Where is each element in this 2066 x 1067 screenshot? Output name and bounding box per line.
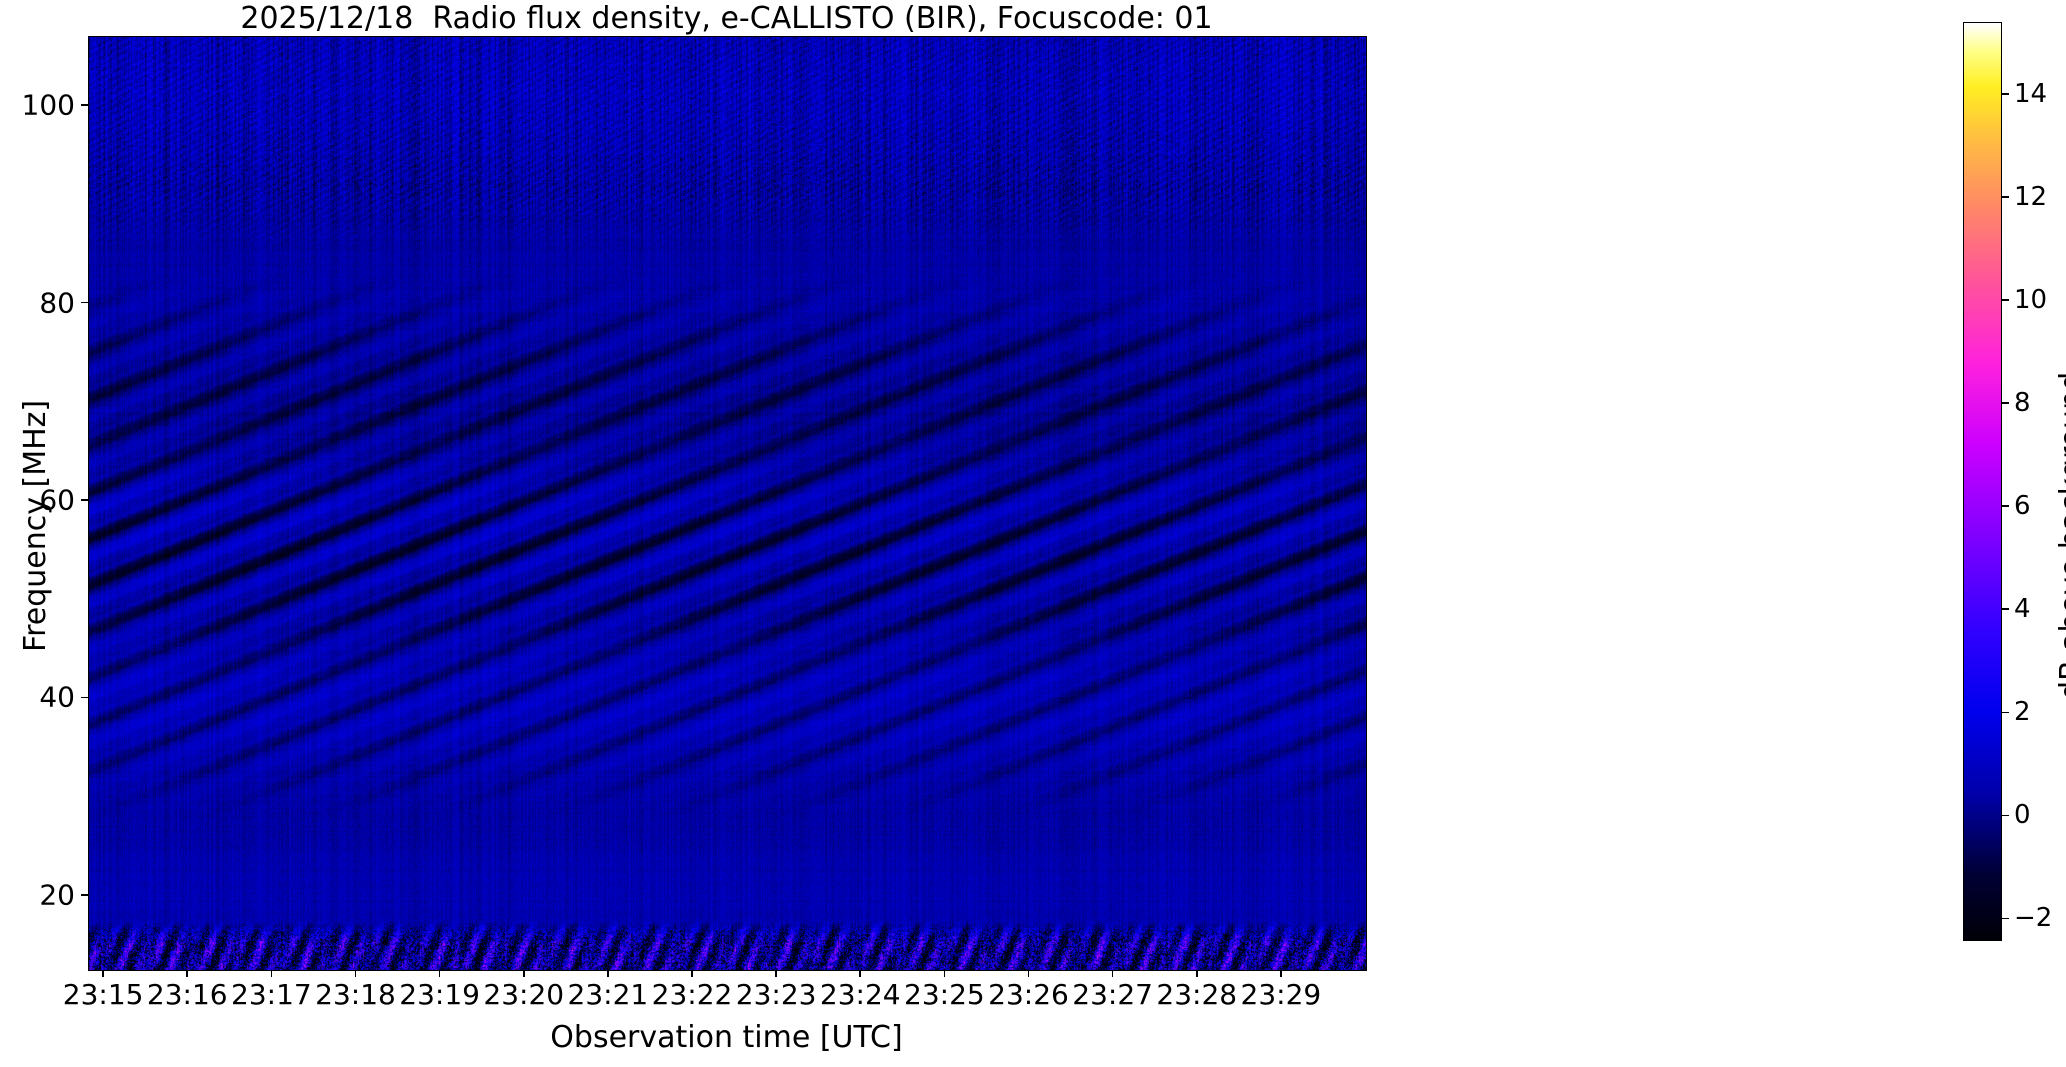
x-tick-mark [523,970,525,977]
colorbar-tick-mark [2002,608,2009,610]
x-tick-label: 23:17 [231,978,312,1011]
y-tick-mark [81,104,88,106]
colorbar-tick-mark [2002,918,2009,920]
x-tick-mark [859,970,861,977]
x-tick-label: 23:18 [315,978,396,1011]
x-tick-mark [1112,970,1114,977]
colorbar-tick-label: 0 [2014,800,2031,830]
y-tick-label: 100 [22,89,75,122]
x-tick-label: 23:21 [568,978,649,1011]
x-tick-label: 23:27 [1072,978,1153,1011]
x-tick-label: 23:20 [483,978,564,1011]
x-tick-mark [186,970,188,977]
colorbar-tick-label: 14 [2014,79,2047,109]
y-tick-label: 80 [39,286,75,319]
y-tick-label: 20 [39,878,75,911]
x-tick-mark [607,970,609,977]
x-tick-label: 23:16 [147,978,228,1011]
chart-title: 2025/12/18 Radio flux density, e-CALLIST… [88,2,1365,36]
colorbar-tick-mark [2002,505,2009,507]
spectrogram-figure: 2025/12/18 Radio flux density, e-CALLIST… [0,0,2066,1067]
colorbar-tick-label: 2 [2014,697,2031,727]
x-axis-label: Observation time [UTC] [88,1020,1365,1055]
colorbar-axes [1963,22,2002,941]
colorbar-tick-label: 6 [2014,491,2031,521]
x-tick-mark [271,970,273,977]
colorbar-tick-label: −2 [2014,903,2052,933]
x-tick-mark [355,970,357,977]
x-tick-label: 23:29 [1241,978,1322,1011]
y-tick-label: 40 [39,681,75,714]
colorbar-tick-mark [2002,196,2009,198]
x-tick-label: 23:26 [988,978,1069,1011]
y-tick-mark [81,302,88,304]
x-tick-label: 23:15 [63,978,144,1011]
y-tick-mark [81,697,88,699]
x-tick-label: 23:25 [904,978,985,1011]
x-tick-mark [775,970,777,977]
colorbar-tick-mark [2002,815,2009,817]
x-tick-label: 23:28 [1156,978,1237,1011]
y-tick-mark [81,499,88,501]
x-tick-mark [691,970,693,977]
colorbar-label: dB above background [2054,372,2066,700]
colorbar-tick-label: 4 [2014,594,2031,624]
y-tick-label: 60 [39,484,75,517]
colorbar-tick-mark [2002,299,2009,301]
x-tick-mark [439,970,441,977]
colorbar-gradient [1964,23,2001,940]
y-axis-label: Frequency [MHz] [18,400,53,652]
x-tick-mark [1196,970,1198,977]
spectrogram-image [89,37,1366,970]
colorbar-tick-label: 8 [2014,388,2031,418]
spectrogram-axes [88,36,1367,971]
colorbar-tick-mark [2002,93,2009,95]
colorbar-tick-label: 12 [2014,182,2047,212]
colorbar-tick-label: 10 [2014,285,2047,315]
x-tick-label: 23:23 [736,978,817,1011]
x-tick-label: 23:22 [652,978,733,1011]
colorbar-tick-mark [2002,712,2009,714]
x-tick-mark [1028,970,1030,977]
x-tick-label: 23:19 [399,978,480,1011]
x-tick-label: 23:24 [820,978,901,1011]
x-tick-mark [944,970,946,977]
colorbar-tick-mark [2002,402,2009,404]
x-tick-mark [1280,970,1282,977]
y-tick-mark [81,894,88,896]
x-tick-mark [102,970,104,977]
